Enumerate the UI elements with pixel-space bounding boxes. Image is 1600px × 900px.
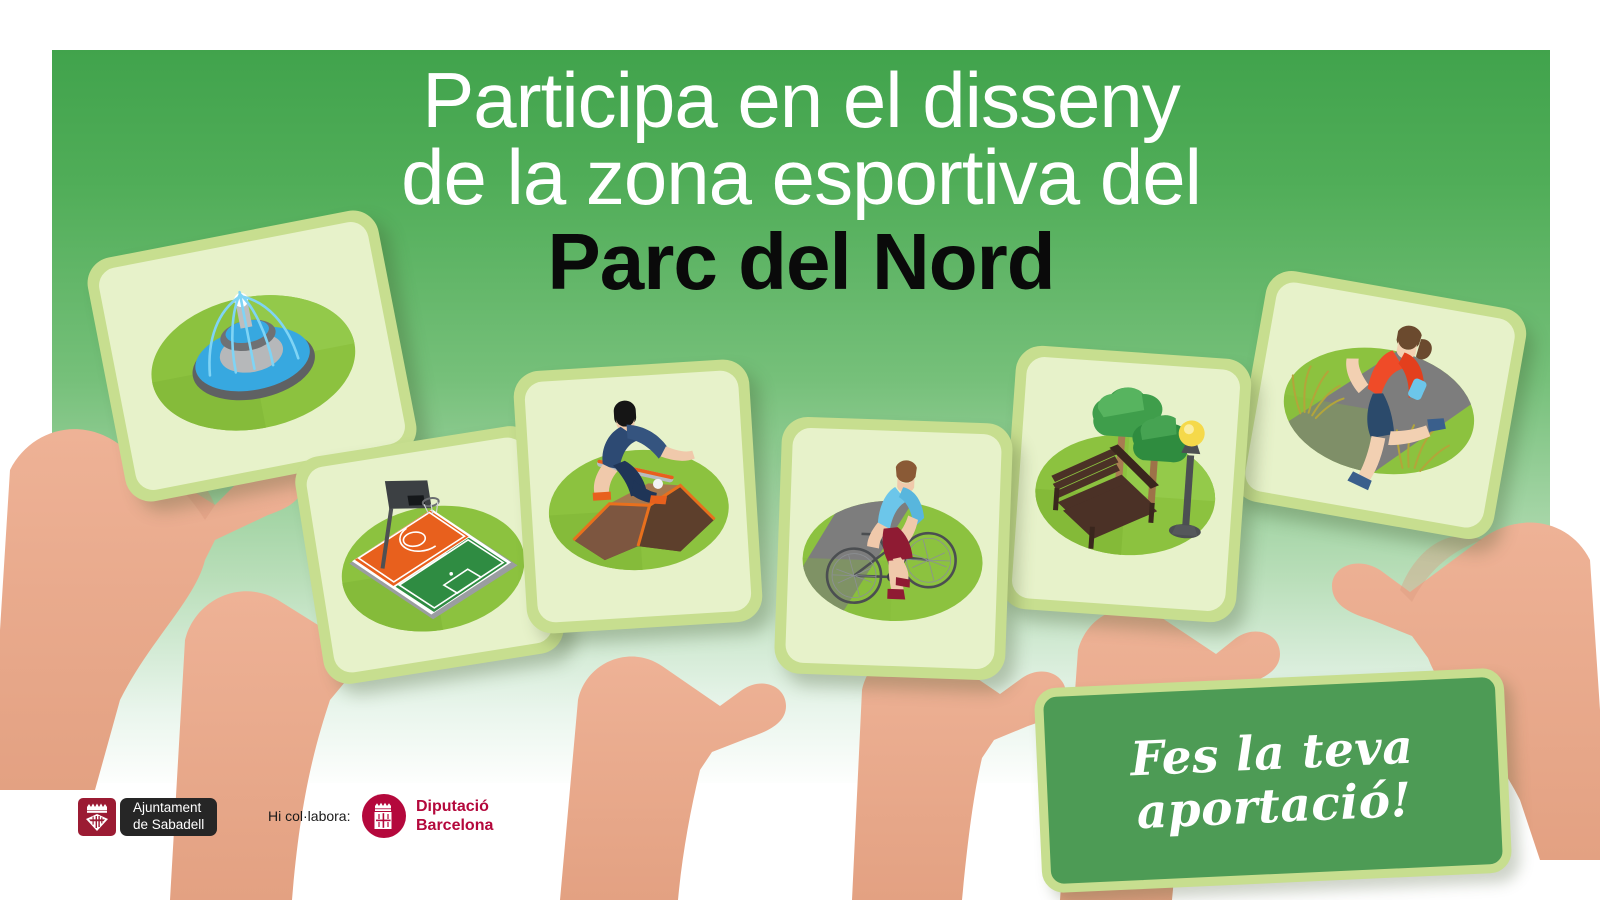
running-scene [1242, 280, 1517, 531]
card-inner [785, 427, 1002, 669]
sabadell-crest-icon [78, 798, 116, 836]
diputacio-line-2: Barcelona [416, 816, 493, 835]
card-inner [1242, 280, 1517, 531]
footer-logos: Ajuntament de Sabadell Hi col·labora: [0, 786, 1600, 900]
collaborator-label: Hi col·labora: [268, 808, 350, 824]
banner-root: Participa en el disseny de la zona espor… [0, 0, 1600, 900]
park-bench-scene [1011, 356, 1241, 612]
ajuntament-line-2: de Sabadell [133, 817, 204, 833]
diputacio-barcelona-logo[interactable]: Diputació Barcelona [362, 794, 493, 838]
cycling-scene [785, 427, 1002, 669]
card-inner [1011, 356, 1241, 612]
bench-trees-card[interactable] [999, 344, 1253, 624]
ajuntament-sabadell-logo[interactable]: Ajuntament de Sabadell [78, 798, 217, 836]
skate-park-card[interactable] [512, 358, 764, 635]
diputacio-crest-icon [362, 794, 406, 838]
card-inner [524, 370, 752, 624]
ajuntament-name-block: Ajuntament de Sabadell [120, 798, 217, 836]
diputacio-line-1: Diputació [416, 797, 493, 816]
running-path-card[interactable] [1230, 267, 1531, 543]
cycling-path-card[interactable] [774, 416, 1014, 681]
diputacio-name-block: Diputació Barcelona [416, 797, 493, 835]
skate-park-scene [524, 370, 752, 624]
ajuntament-line-1: Ajuntament [133, 800, 204, 816]
